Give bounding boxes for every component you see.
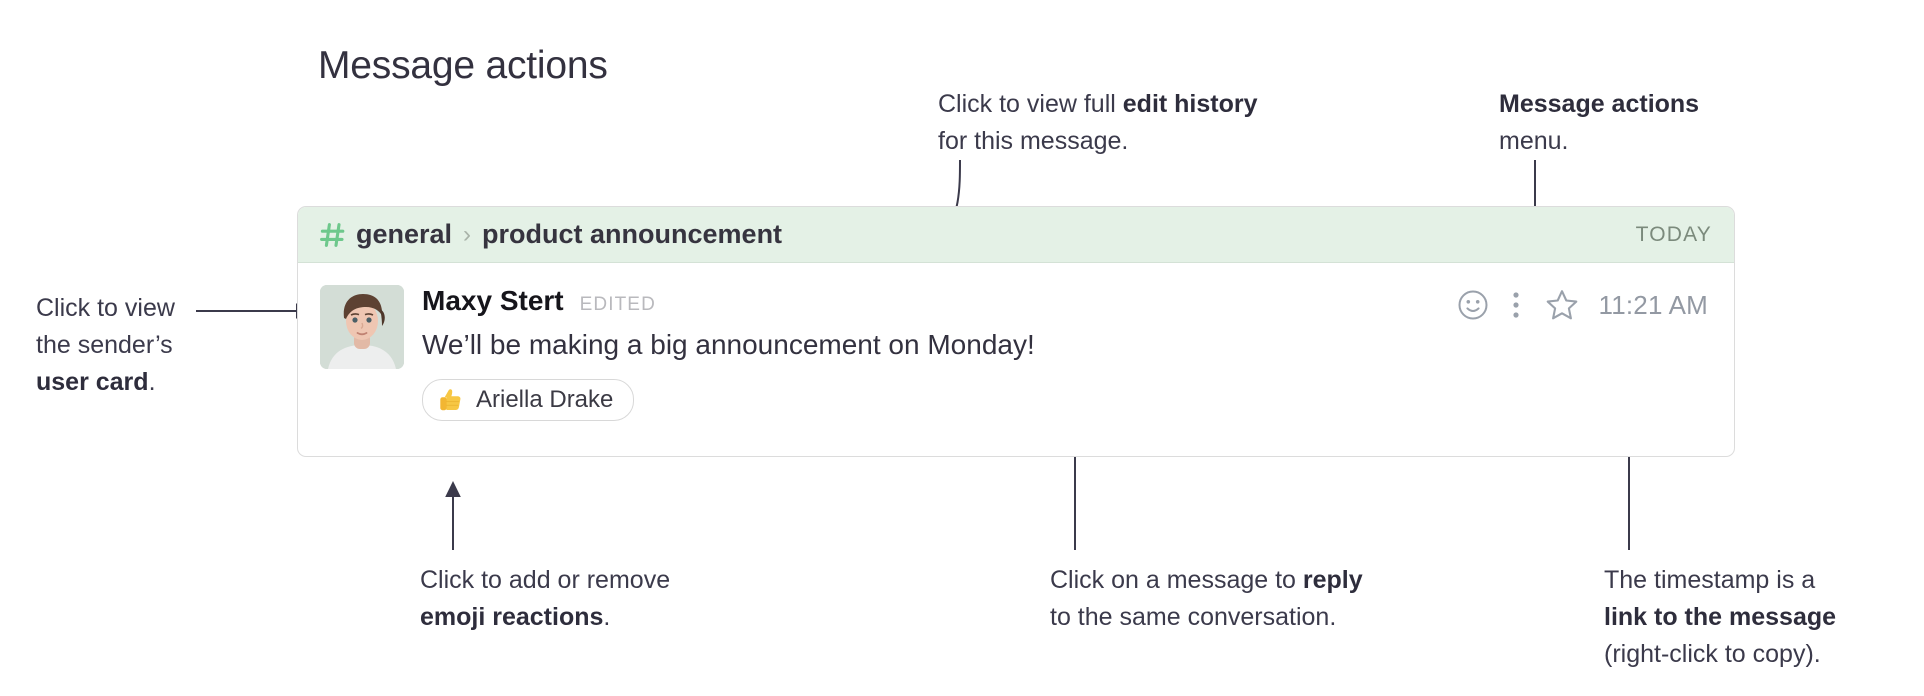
annotation-user-card-line1: Click to view: [36, 294, 175, 322]
annotation-edit-history-bold: edit history: [1123, 90, 1258, 118]
annotation-actions-menu-bold: Message actions: [1499, 90, 1699, 118]
annotation-reply-line1-pre: Click on a message to: [1050, 566, 1303, 594]
annotation-actions-menu-line2: menu.: [1499, 127, 1568, 155]
annotation-timestamp-line3: (right-click to copy).: [1604, 640, 1821, 668]
annotation-reply-bold: reply: [1303, 566, 1363, 594]
avatar-image: [320, 285, 404, 369]
breadcrumb-separator-icon: ›: [463, 221, 471, 249]
annotation-timestamp-link: The timestamp is a link to the message (…: [1604, 562, 1924, 673]
thumbs-up-icon: [436, 385, 466, 415]
conversation-date-label: TODAY: [1636, 223, 1712, 247]
message-body-text[interactable]: We’ll be making a big announcement on Mo…: [422, 329, 1734, 361]
page-title: Message actions: [318, 44, 608, 88]
annotation-emoji-bold: emoji reactions: [420, 603, 603, 631]
message-sender-name[interactable]: Maxy Stert: [422, 285, 564, 317]
annotation-user-card-line2: the sender’s: [36, 331, 173, 359]
message-actions-menu-icon[interactable]: [1510, 290, 1522, 320]
annotation-user-card-bold: user card: [36, 368, 149, 396]
annotation-emoji-period: .: [603, 603, 610, 631]
message-timestamp-link[interactable]: 11:21 AM: [1598, 290, 1708, 321]
annotation-reply: Click on a message to reply to the same …: [1050, 562, 1450, 636]
annotation-actions-menu: Message actions menu.: [1499, 86, 1799, 160]
edited-badge[interactable]: EDITED: [580, 294, 656, 316]
breadcrumb-topic[interactable]: product announcement: [482, 219, 782, 250]
reaction-user-name: Ariella Drake: [476, 386, 613, 414]
annotation-reply-line2: to the same conversation.: [1050, 603, 1336, 631]
message-actions: 11:21 AM: [1456, 287, 1708, 323]
annotation-timestamp-bold: link to the message: [1604, 603, 1836, 631]
annotation-edit-history-line2: for this message.: [938, 127, 1128, 155]
annotation-user-card: Click to view the sender’s user card.: [36, 290, 251, 401]
breadcrumb-channel[interactable]: general: [356, 219, 452, 250]
annotation-edit-history: Click to view full edit history for this…: [938, 86, 1368, 160]
reaction-pill[interactable]: Ariella Drake: [422, 379, 634, 421]
illustration-canvas: Message actions Click to view full edit …: [0, 0, 1924, 696]
avatar[interactable]: [320, 285, 404, 369]
message-row[interactable]: Maxy Stert EDITED We’ll be making a big …: [298, 263, 1734, 421]
annotation-emoji-line1: Click to add or remove: [420, 566, 670, 594]
reaction-row: Ariella Drake: [422, 379, 1734, 421]
conversation-header: general › product announcement TODAY: [298, 207, 1734, 263]
message-card: general › product announcement TODAY: [297, 206, 1735, 457]
emoji-reaction-icon[interactable]: [1456, 288, 1490, 322]
annotation-emoji-reactions: Click to add or remove emoji reactions.: [420, 562, 750, 636]
annotation-edit-history-line1-pre: Click to view full: [938, 90, 1123, 118]
annotation-timestamp-line1: The timestamp is a: [1604, 566, 1815, 594]
annotation-user-card-period: .: [149, 368, 156, 396]
hash-icon: [320, 222, 346, 248]
star-icon[interactable]: [1544, 287, 1580, 323]
